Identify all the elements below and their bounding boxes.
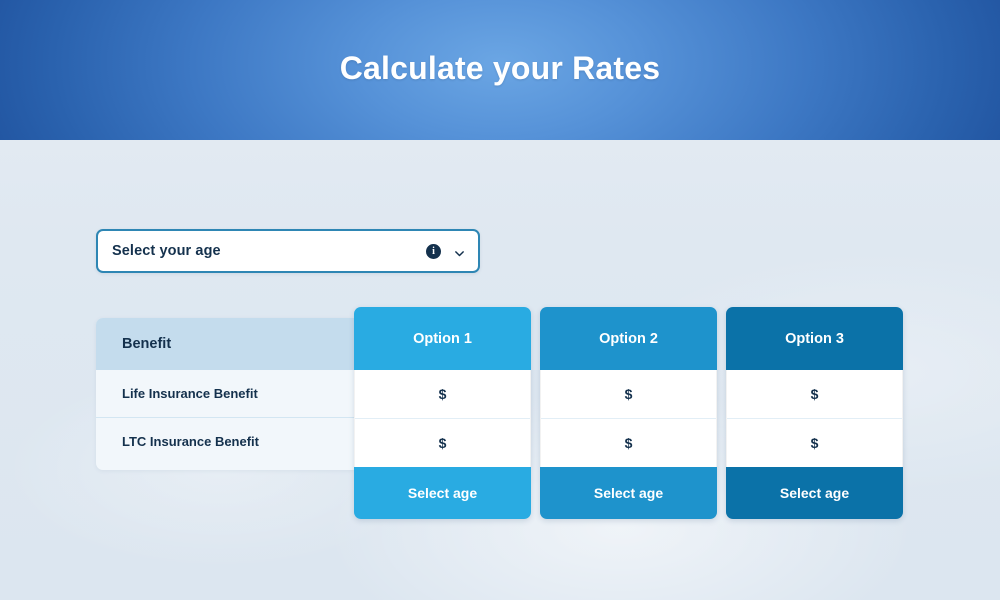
info-icon[interactable]: i <box>426 244 441 259</box>
select-age-button-3[interactable]: Select age <box>726 467 903 519</box>
option-value-cell: $ <box>355 370 530 418</box>
select-age-button-1[interactable]: Select age <box>354 467 531 519</box>
benefit-column: Benefit Life Insurance Benefit LTC Insur… <box>96 318 354 470</box>
option-card-values: $ $ <box>354 370 531 467</box>
table-row: Life Insurance Benefit <box>96 370 354 417</box>
option-card-title: Option 1 <box>354 307 531 370</box>
page-header-banner: Calculate your Rates <box>0 0 1000 140</box>
option-value-cell: $ <box>355 418 530 467</box>
rates-comparison-table: Benefit Life Insurance Benefit LTC Insur… <box>96 307 903 519</box>
option-value-cell: $ <box>541 370 716 418</box>
option-card-title: Option 2 <box>540 307 717 370</box>
option-card-title: Option 3 <box>726 307 903 370</box>
option-value-cell: $ <box>727 370 902 418</box>
select-age-button-2[interactable]: Select age <box>540 467 717 519</box>
option-card-values: $ $ <box>726 370 903 467</box>
option-card-3: Option 3 $ $ Select age <box>726 307 903 519</box>
option-card-1: Option 1 $ $ Select age <box>354 307 531 519</box>
chevron-down-icon[interactable] <box>454 246 465 257</box>
table-row: LTC Insurance Benefit <box>96 417 354 464</box>
page-title: Calculate your Rates <box>0 50 1000 87</box>
option-card-values: $ $ <box>540 370 717 467</box>
age-select-dropdown[interactable]: Select your age i <box>96 229 480 273</box>
benefit-column-header: Benefit <box>96 318 354 370</box>
option-value-cell: $ <box>727 418 902 467</box>
page-background: Calculate your Rates Select your age i B… <box>0 0 1000 600</box>
age-select-label: Select your age <box>112 243 426 259</box>
option-card-2: Option 2 $ $ Select age <box>540 307 717 519</box>
option-value-cell: $ <box>541 418 716 467</box>
